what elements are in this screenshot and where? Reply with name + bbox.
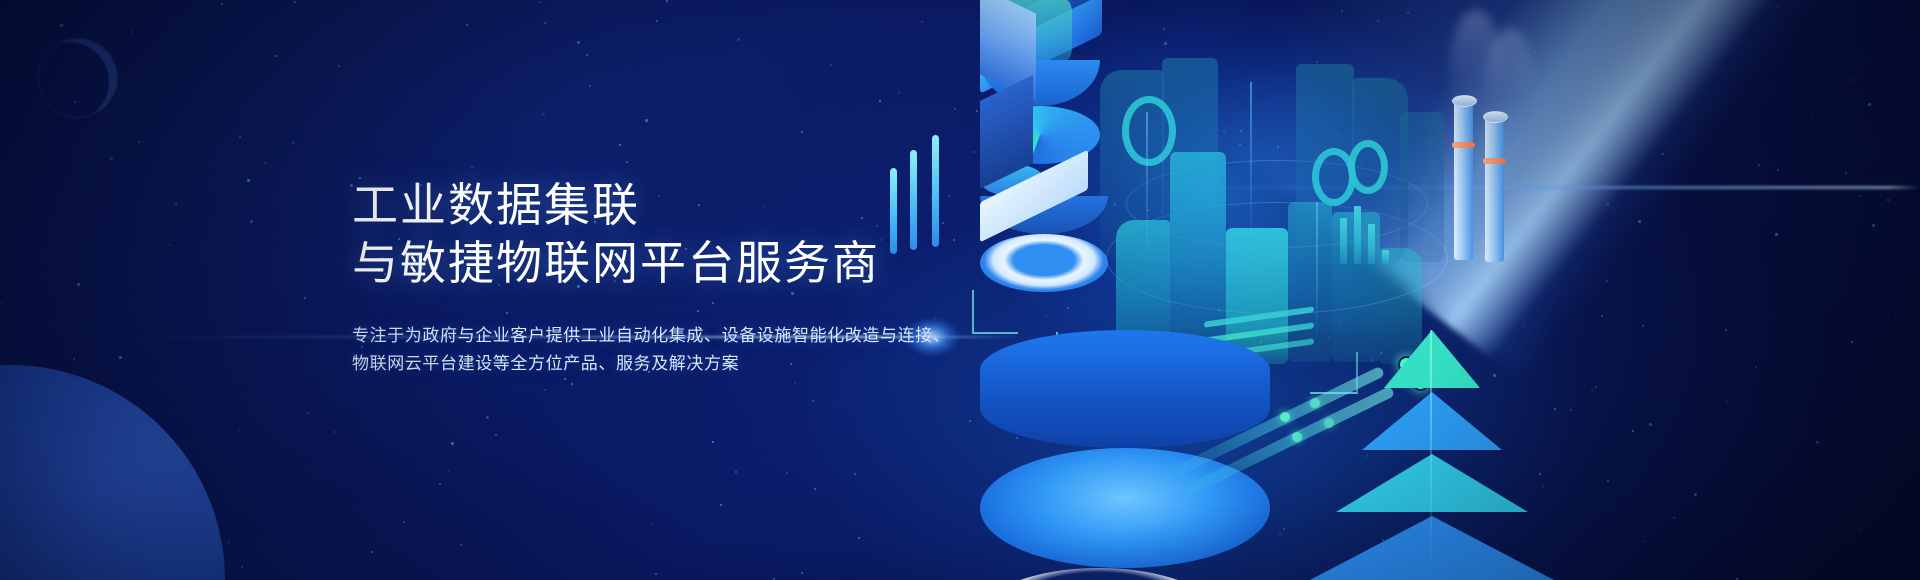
data-node	[1310, 398, 1320, 408]
subcopy-line-1: 专注于为政府与企业客户提供工业自动化集成、设备设施智能化改造与连接、	[352, 322, 1072, 350]
headline-line-1: 工业数据集联	[352, 176, 1072, 234]
crescent-moon-icon	[38, 38, 118, 118]
pyramid-tier	[1362, 392, 1502, 450]
smokestack-band	[1452, 142, 1475, 148]
planet-arc	[0, 365, 225, 580]
smokestack	[1485, 116, 1504, 262]
hero-banner: 工业数据集联 与敏捷物联网平台服务商 专注于为政府与企业客户提供工业自动化集成、…	[0, 0, 1920, 580]
data-node	[1292, 432, 1302, 442]
pyramid-tier	[1384, 330, 1480, 388]
data-node	[1324, 418, 1334, 428]
hero-copy: 工业数据集联 与敏捷物联网平台服务商 专注于为政府与企业客户提供工业自动化集成、…	[352, 176, 1072, 378]
data-node	[1280, 412, 1290, 422]
pyramid-tier	[1336, 454, 1528, 512]
disc-highlight-ring	[980, 568, 1218, 580]
subcopy-line-2: 物联网云平台建设等全方位产品、服务及解决方案	[352, 350, 1072, 378]
pyramid-tier	[1310, 516, 1554, 580]
headline-line-2: 与敏捷物联网平台服务商	[352, 234, 1072, 292]
smokestack-cap	[1452, 95, 1477, 107]
factory-side-wall	[980, 75, 1033, 189]
smokestack-cap	[1483, 111, 1508, 123]
connection-wire	[1310, 352, 1358, 394]
pyramid-edge-highlight	[1430, 330, 1432, 580]
isometric-industrial-iot-scene	[980, 0, 1920, 580]
smokestack	[1454, 100, 1473, 260]
smokestack-band	[1483, 158, 1506, 164]
